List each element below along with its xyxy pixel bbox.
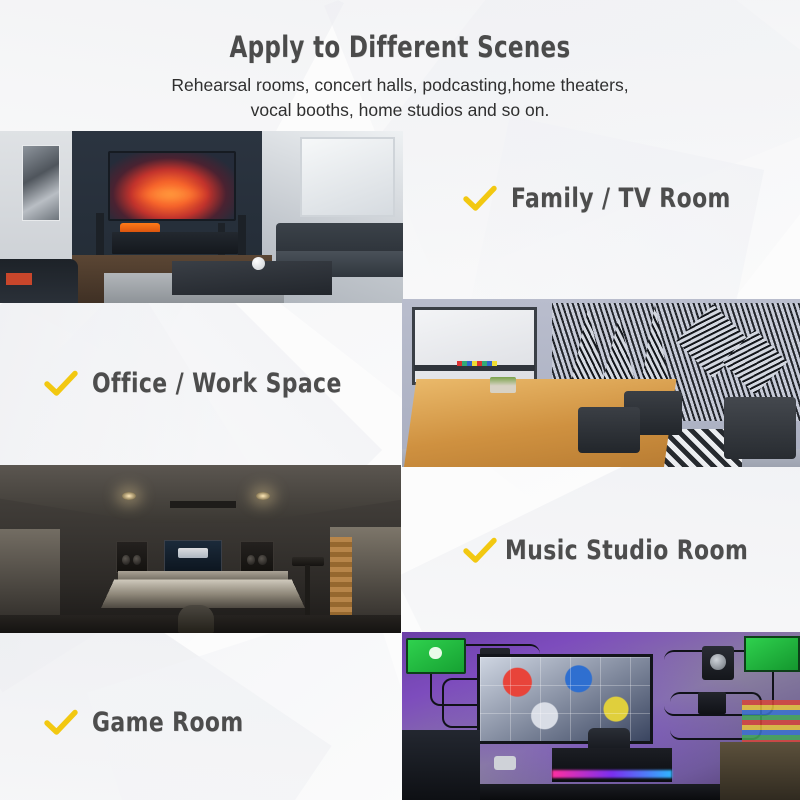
scene-label-text: Music Studio Room bbox=[505, 535, 748, 566]
scene-photo-music-studio-room bbox=[0, 465, 401, 633]
scene-label-music-studio-room: Music Studio Room bbox=[463, 535, 775, 566]
scene-label-text: Game Room bbox=[92, 707, 244, 738]
check-icon bbox=[463, 536, 497, 566]
subtitle-line-1: Rehearsal rooms, concert halls, podcasti… bbox=[0, 73, 800, 98]
scene-photo-game-room bbox=[402, 632, 800, 800]
scene-label-family-tv-room: Family / TV Room bbox=[463, 183, 755, 214]
header: Apply to Different Scenes Rehearsal room… bbox=[0, 30, 800, 123]
scene-photo-family-tv-room bbox=[0, 131, 403, 303]
infographic-page: Apply to Different Scenes Rehearsal room… bbox=[0, 0, 800, 800]
page-title: Apply to Different Scenes bbox=[48, 30, 752, 64]
scene-label-text: Office / Work Space bbox=[92, 368, 342, 399]
subtitle-line-2: vocal booths, home studios and so on. bbox=[0, 98, 800, 123]
check-icon bbox=[463, 184, 497, 214]
scene-label-game-room: Game Room bbox=[44, 707, 260, 738]
page-subtitle: Rehearsal rooms, concert halls, podcasti… bbox=[0, 73, 800, 123]
check-icon bbox=[44, 708, 78, 738]
scene-photo-office-work-space bbox=[402, 299, 800, 467]
scene-label-office-work-space: Office / Work Space bbox=[44, 368, 370, 399]
check-icon bbox=[44, 369, 78, 399]
scene-label-text: Family / TV Room bbox=[511, 183, 731, 214]
